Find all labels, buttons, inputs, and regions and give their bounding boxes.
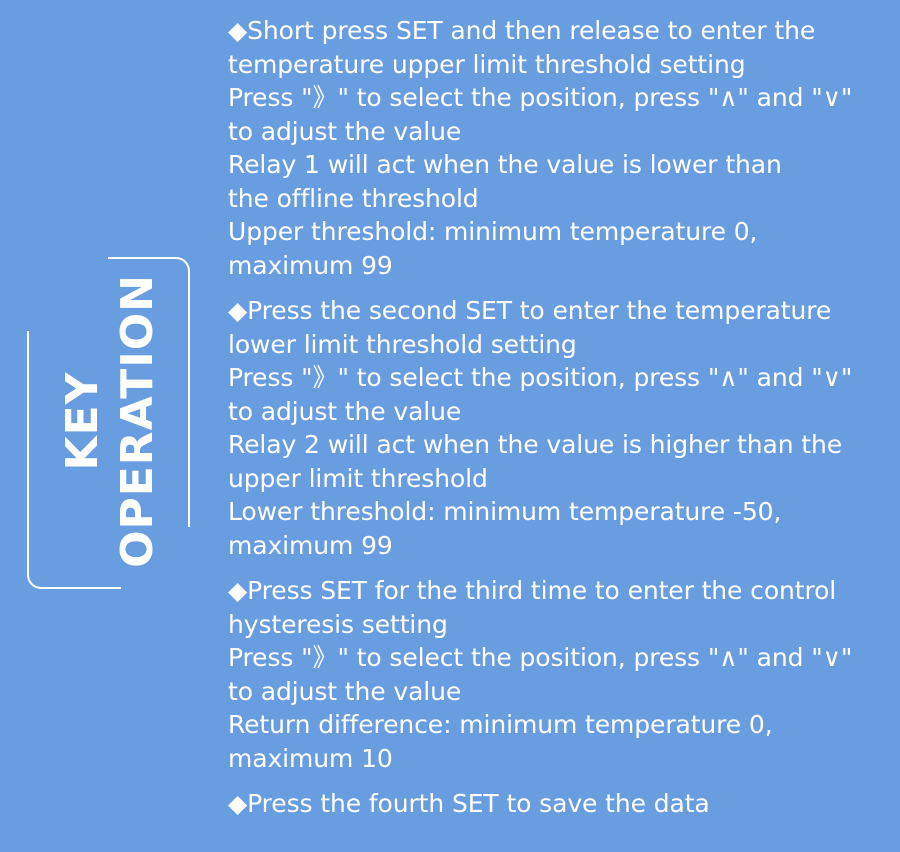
- instruction-line: to adjust the value: [228, 395, 888, 429]
- instruction-line: Press "》" to select the position, press …: [228, 641, 888, 675]
- instruction-line: Upper threshold: minimum temperature 0,: [228, 215, 888, 249]
- instruction-line: Press "》" to select the position, press …: [228, 81, 888, 115]
- key-operation-panel: KEY OPERATION ◆Short press SET and then …: [0, 0, 900, 852]
- instruction-line: ◆Short press SET and then release to ent…: [228, 14, 888, 48]
- instruction-line: ◆Press the second SET to enter the tempe…: [228, 294, 888, 328]
- section-title-line-2: OPERATION: [110, 274, 165, 568]
- vertical-section-title: KEY OPERATION: [0, 0, 220, 852]
- instruction-line: Return difference: minimum temperature 0…: [228, 708, 888, 742]
- instruction-line: to adjust the value: [228, 675, 888, 709]
- instruction-block: ◆Press the fourth SET to save the data: [228, 787, 888, 821]
- side-label-zone: KEY OPERATION: [0, 0, 220, 852]
- instruction-line: ◆Press the fourth SET to save the data: [228, 787, 888, 821]
- instruction-line: temperature upper limit threshold settin…: [228, 48, 888, 82]
- instruction-line: maximum 99: [228, 529, 888, 563]
- instruction-line: maximum 10: [228, 742, 888, 776]
- instruction-line: to adjust the value: [228, 115, 888, 149]
- instruction-line: Lower threshold: minimum temperature -50…: [228, 495, 888, 529]
- section-title-line-1: KEY: [55, 274, 110, 568]
- instruction-line: the offline threshold: [228, 182, 888, 216]
- instruction-line: Relay 1 will act when the value is lower…: [228, 148, 888, 182]
- instruction-line: ◆Press SET for the third time to enter t…: [228, 574, 888, 608]
- instruction-block: ◆Press the second SET to enter the tempe…: [228, 294, 888, 562]
- instruction-line: upper limit threshold: [228, 462, 888, 496]
- instruction-block: ◆Press SET for the third time to enter t…: [228, 574, 888, 775]
- instruction-line: maximum 99: [228, 249, 888, 283]
- instruction-line: lower limit threshold setting: [228, 328, 888, 362]
- instruction-line: Press "》" to select the position, press …: [228, 361, 888, 395]
- instruction-line: Relay 2 will act when the value is highe…: [228, 428, 888, 462]
- instruction-line: hysteresis setting: [228, 608, 888, 642]
- instruction-block: ◆Short press SET and then release to ent…: [228, 14, 888, 282]
- instructions-content: ◆Short press SET and then release to ent…: [228, 14, 888, 821]
